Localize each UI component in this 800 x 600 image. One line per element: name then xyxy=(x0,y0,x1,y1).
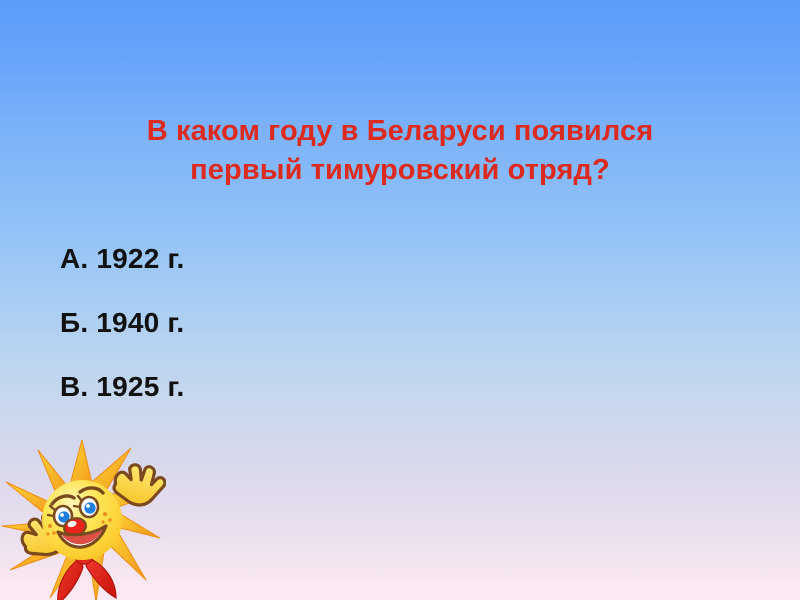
answer-options-list: А. 1922 г. Б. 1940 г. В. 1925 г. xyxy=(60,242,460,434)
answer-option-c[interactable]: В. 1925 г. xyxy=(60,370,460,404)
answer-option-b[interactable]: Б. 1940 г. xyxy=(60,306,460,340)
smiling-sun-icon xyxy=(0,434,166,600)
answer-option-a[interactable]: А. 1922 г. xyxy=(60,242,460,276)
slide-canvas: В каком году в Беларуси появился первый … xyxy=(0,0,800,600)
question-title: В каком году в Беларуси появился первый … xyxy=(70,112,730,190)
